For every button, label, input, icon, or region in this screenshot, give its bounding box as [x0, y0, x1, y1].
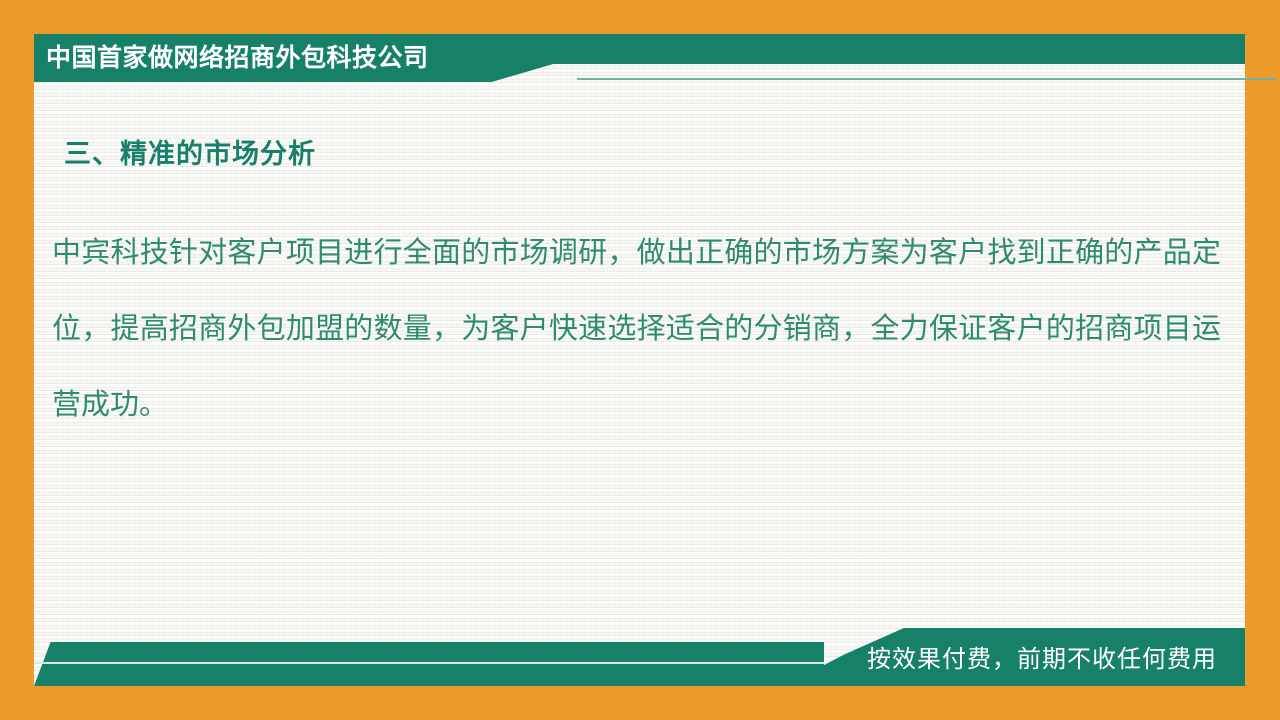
section-heading: 三、精准的市场分析	[64, 100, 1245, 171]
header-accent-strip	[520, 34, 1245, 64]
slide-footer: 按效果付费，前期不收任何费用	[34, 628, 1245, 686]
footer-accent-strip	[34, 642, 824, 686]
frame-border-top	[0, 0, 1280, 34]
header-banner-block: 中国首家做网络招商外包科技公司	[34, 34, 554, 82]
footer-divider-line	[34, 662, 824, 664]
footer-banner-block: 按效果付费，前期不收任何费用	[784, 628, 1245, 686]
frame-border-right	[1245, 0, 1280, 720]
slide-header: 中国首家做网络招商外包科技公司	[34, 34, 1245, 82]
body-paragraph: 中宾科技针对客户项目进行全面的市场调研，做出正确的市场方案为客户找到正确的产品定…	[52, 215, 1221, 443]
company-tagline-title: 中国首家做网络招商外包科技公司	[46, 34, 429, 82]
frame-border-left	[0, 0, 34, 720]
presentation-slide: 中国首家做网络招商外包科技公司 三、精准的市场分析 中宾科技针对客户项目进行全面…	[0, 0, 1280, 720]
frame-border-bottom	[0, 686, 1280, 720]
header-divider-line	[577, 78, 1277, 80]
footer-tagline: 按效果付费，前期不收任何费用	[867, 628, 1217, 686]
slide-content: 三、精准的市场分析 中宾科技针对客户项目进行全面的市场调研，做出正确的市场方案为…	[34, 100, 1245, 443]
